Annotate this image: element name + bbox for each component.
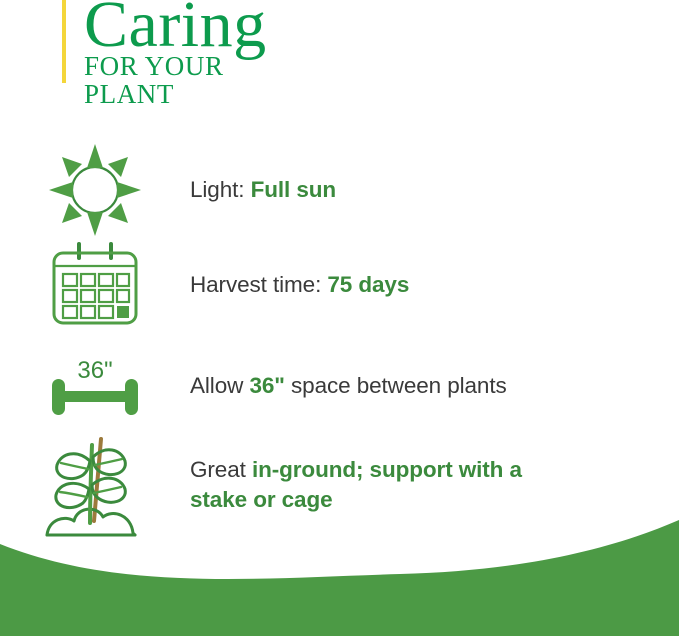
harvest-text: Harvest time: 75 days xyxy=(190,270,409,300)
calendar-icon-cell xyxy=(0,242,190,328)
spacing-label: Allow xyxy=(190,373,243,398)
page-title: Caring xyxy=(84,0,267,58)
light-value: Full sun xyxy=(251,177,336,202)
caring-for-your-plant-card: Caring FOR YOUR PLANT Light: xyxy=(0,0,679,636)
harvest-value: 75 days xyxy=(327,272,409,297)
spacing-icon-cell: 36" xyxy=(0,355,190,417)
info-row-spacing: 36" Allow 36" space between plants xyxy=(0,355,679,417)
light-label: Light: xyxy=(190,177,244,202)
spacing-text: Allow 36" space between plants xyxy=(190,371,507,401)
sun-icon xyxy=(47,142,143,238)
spacing-suffix: space between plants xyxy=(291,373,507,398)
calendar-icon xyxy=(49,242,141,328)
spacing-icon: 36" xyxy=(43,355,147,417)
harvest-label: Harvest time: xyxy=(190,272,321,297)
info-row-harvest: Harvest time: 75 days xyxy=(0,245,679,325)
support-text: Great in-ground; support with a stake or… xyxy=(190,455,570,515)
accent-bar xyxy=(62,0,66,83)
title-block: Caring FOR YOUR PLANT xyxy=(84,0,267,108)
bottom-wave-decoration xyxy=(0,516,679,636)
light-text: Light: Full sun xyxy=(190,175,336,205)
info-row-light: Light: Full sun xyxy=(0,150,679,230)
support-label: Great xyxy=(190,457,246,482)
spacing-icon-label: 36" xyxy=(77,357,112,384)
sun-icon-cell xyxy=(0,142,190,238)
spacing-value: 36" xyxy=(249,373,284,398)
